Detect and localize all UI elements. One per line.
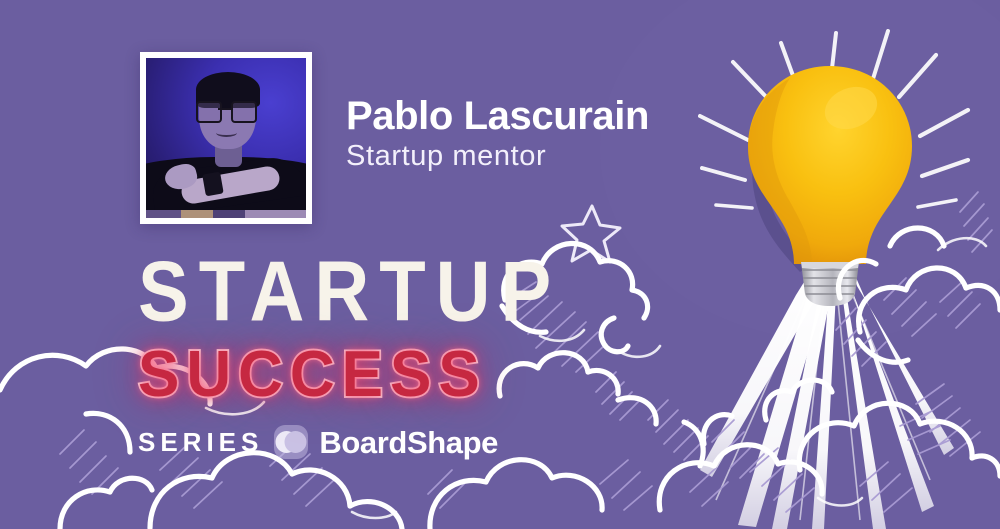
speaker-role: Startup mentor (346, 140, 649, 172)
series-brand-row: SERIES BoardShape (138, 425, 498, 459)
rocket-exhaust-thin-lines (716, 272, 930, 520)
light-rays (700, 31, 968, 208)
series-label: SERIES (138, 429, 263, 455)
speaker-name: Pablo Lascurain (346, 95, 649, 138)
boardshape-logo-icon (274, 425, 308, 459)
bulb-screw-base (801, 262, 859, 306)
brand-name: BoardShape (319, 427, 498, 458)
speaker-text: Pablo Lascurain Startup mentor (346, 95, 649, 181)
avatar-photo (146, 58, 306, 218)
lightbulb-icon (748, 66, 912, 306)
series-lockup: STARTUP SUCCESS SERIES BoardShape (138, 252, 498, 459)
promo-banner: Pablo Lascurain Startup mentor STARTUP S… (0, 0, 1000, 529)
avatar (140, 52, 312, 224)
title-line-success: SUCCESS (138, 343, 498, 407)
rocket-exhaust-trail (700, 266, 954, 529)
title-line-startup: STARTUP (138, 252, 498, 332)
speaker-block: Pablo Lascurain Startup mentor (140, 52, 649, 224)
